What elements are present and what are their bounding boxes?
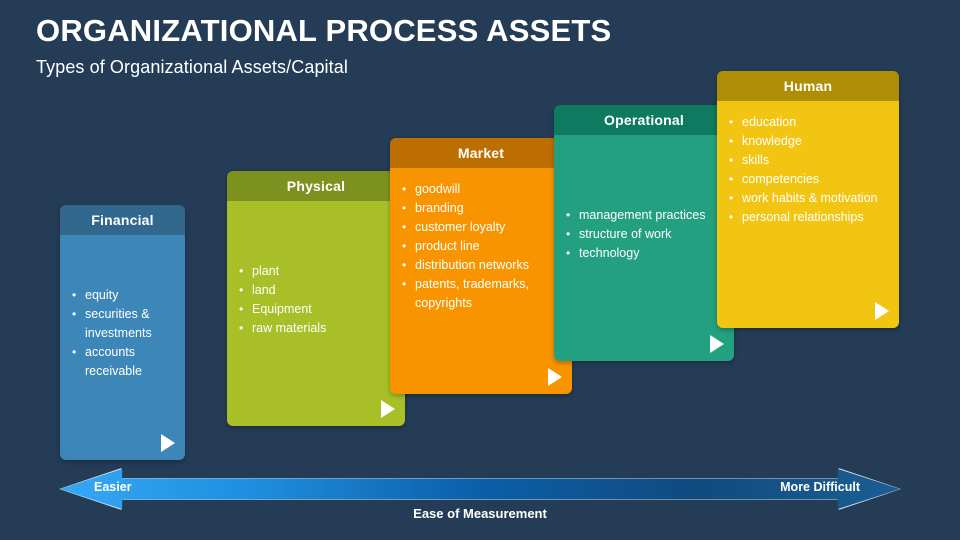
list-item: skills xyxy=(729,151,889,170)
play-triangle-icon[interactable] xyxy=(875,302,889,320)
list-item: customer loyalty xyxy=(402,218,562,237)
card-human-body: education knowledge skills competencies … xyxy=(717,101,899,328)
card-physical-list: plant land Equipment raw materials xyxy=(239,262,395,338)
list-item: accounts receivable xyxy=(72,343,175,381)
card-market[interactable]: Market goodwill branding customer loyalt… xyxy=(390,138,572,394)
axis-caption: Ease of Measurement xyxy=(0,506,960,521)
list-item: plant xyxy=(239,262,395,281)
list-item: distribution networks xyxy=(402,256,562,275)
list-item: structure of work xyxy=(566,225,724,244)
card-physical[interactable]: Physical plant land Equipment raw materi… xyxy=(227,171,405,426)
card-human[interactable]: Human education knowledge skills compete… xyxy=(717,71,899,328)
page-subtitle: Types of Organizational Assets/Capital xyxy=(36,57,611,78)
arrow-right-label: More Difficult xyxy=(780,480,860,494)
list-item: branding xyxy=(402,199,562,218)
list-item: raw materials xyxy=(239,319,395,338)
card-operational-header: Operational xyxy=(554,105,734,135)
card-physical-body: plant land Equipment raw materials xyxy=(227,201,405,426)
card-market-list: goodwill branding customer loyalty produ… xyxy=(402,180,562,313)
card-operational[interactable]: Operational management practices structu… xyxy=(554,105,734,361)
list-item: technology xyxy=(566,244,724,263)
card-financial[interactable]: Financial equity securities & investment… xyxy=(60,205,185,460)
list-item: equity xyxy=(72,286,175,305)
page-title: ORGANIZATIONAL PROCESS ASSETS xyxy=(36,14,611,48)
list-item: securities & investments xyxy=(72,305,175,343)
list-item: product line xyxy=(402,237,562,256)
card-financial-list: equity securities & investments accounts… xyxy=(72,286,175,381)
double-arrow-icon xyxy=(60,469,900,509)
arrow-left-label: Easier xyxy=(94,480,132,494)
list-item: patents, trademarks, copyrights xyxy=(402,275,562,313)
list-item: land xyxy=(239,281,395,300)
title-block: ORGANIZATIONAL PROCESS ASSETS Types of O… xyxy=(36,14,611,78)
card-market-body: goodwill branding customer loyalty produ… xyxy=(390,168,572,394)
play-triangle-icon[interactable] xyxy=(161,434,175,452)
play-triangle-icon[interactable] xyxy=(548,368,562,386)
card-market-header: Market xyxy=(390,138,572,168)
list-item: competencies xyxy=(729,170,889,189)
play-triangle-icon[interactable] xyxy=(381,400,395,418)
list-item: Equipment xyxy=(239,300,395,319)
card-physical-header: Physical xyxy=(227,171,405,201)
card-human-header: Human xyxy=(717,71,899,101)
list-item: work habits & motivation xyxy=(729,189,889,208)
play-triangle-icon[interactable] xyxy=(710,335,724,353)
card-operational-list: management practices structure of work t… xyxy=(566,206,724,263)
card-human-list: education knowledge skills competencies … xyxy=(729,113,889,227)
card-financial-body: equity securities & investments accounts… xyxy=(60,235,185,460)
ease-of-measurement-arrow: Easier More Difficult xyxy=(60,469,900,509)
card-operational-body: management practices structure of work t… xyxy=(554,135,734,361)
card-financial-header: Financial xyxy=(60,205,185,235)
list-item: management practices xyxy=(566,206,724,225)
list-item: education xyxy=(729,113,889,132)
list-item: goodwill xyxy=(402,180,562,199)
list-item: knowledge xyxy=(729,132,889,151)
list-item: personal relationships xyxy=(729,208,889,227)
